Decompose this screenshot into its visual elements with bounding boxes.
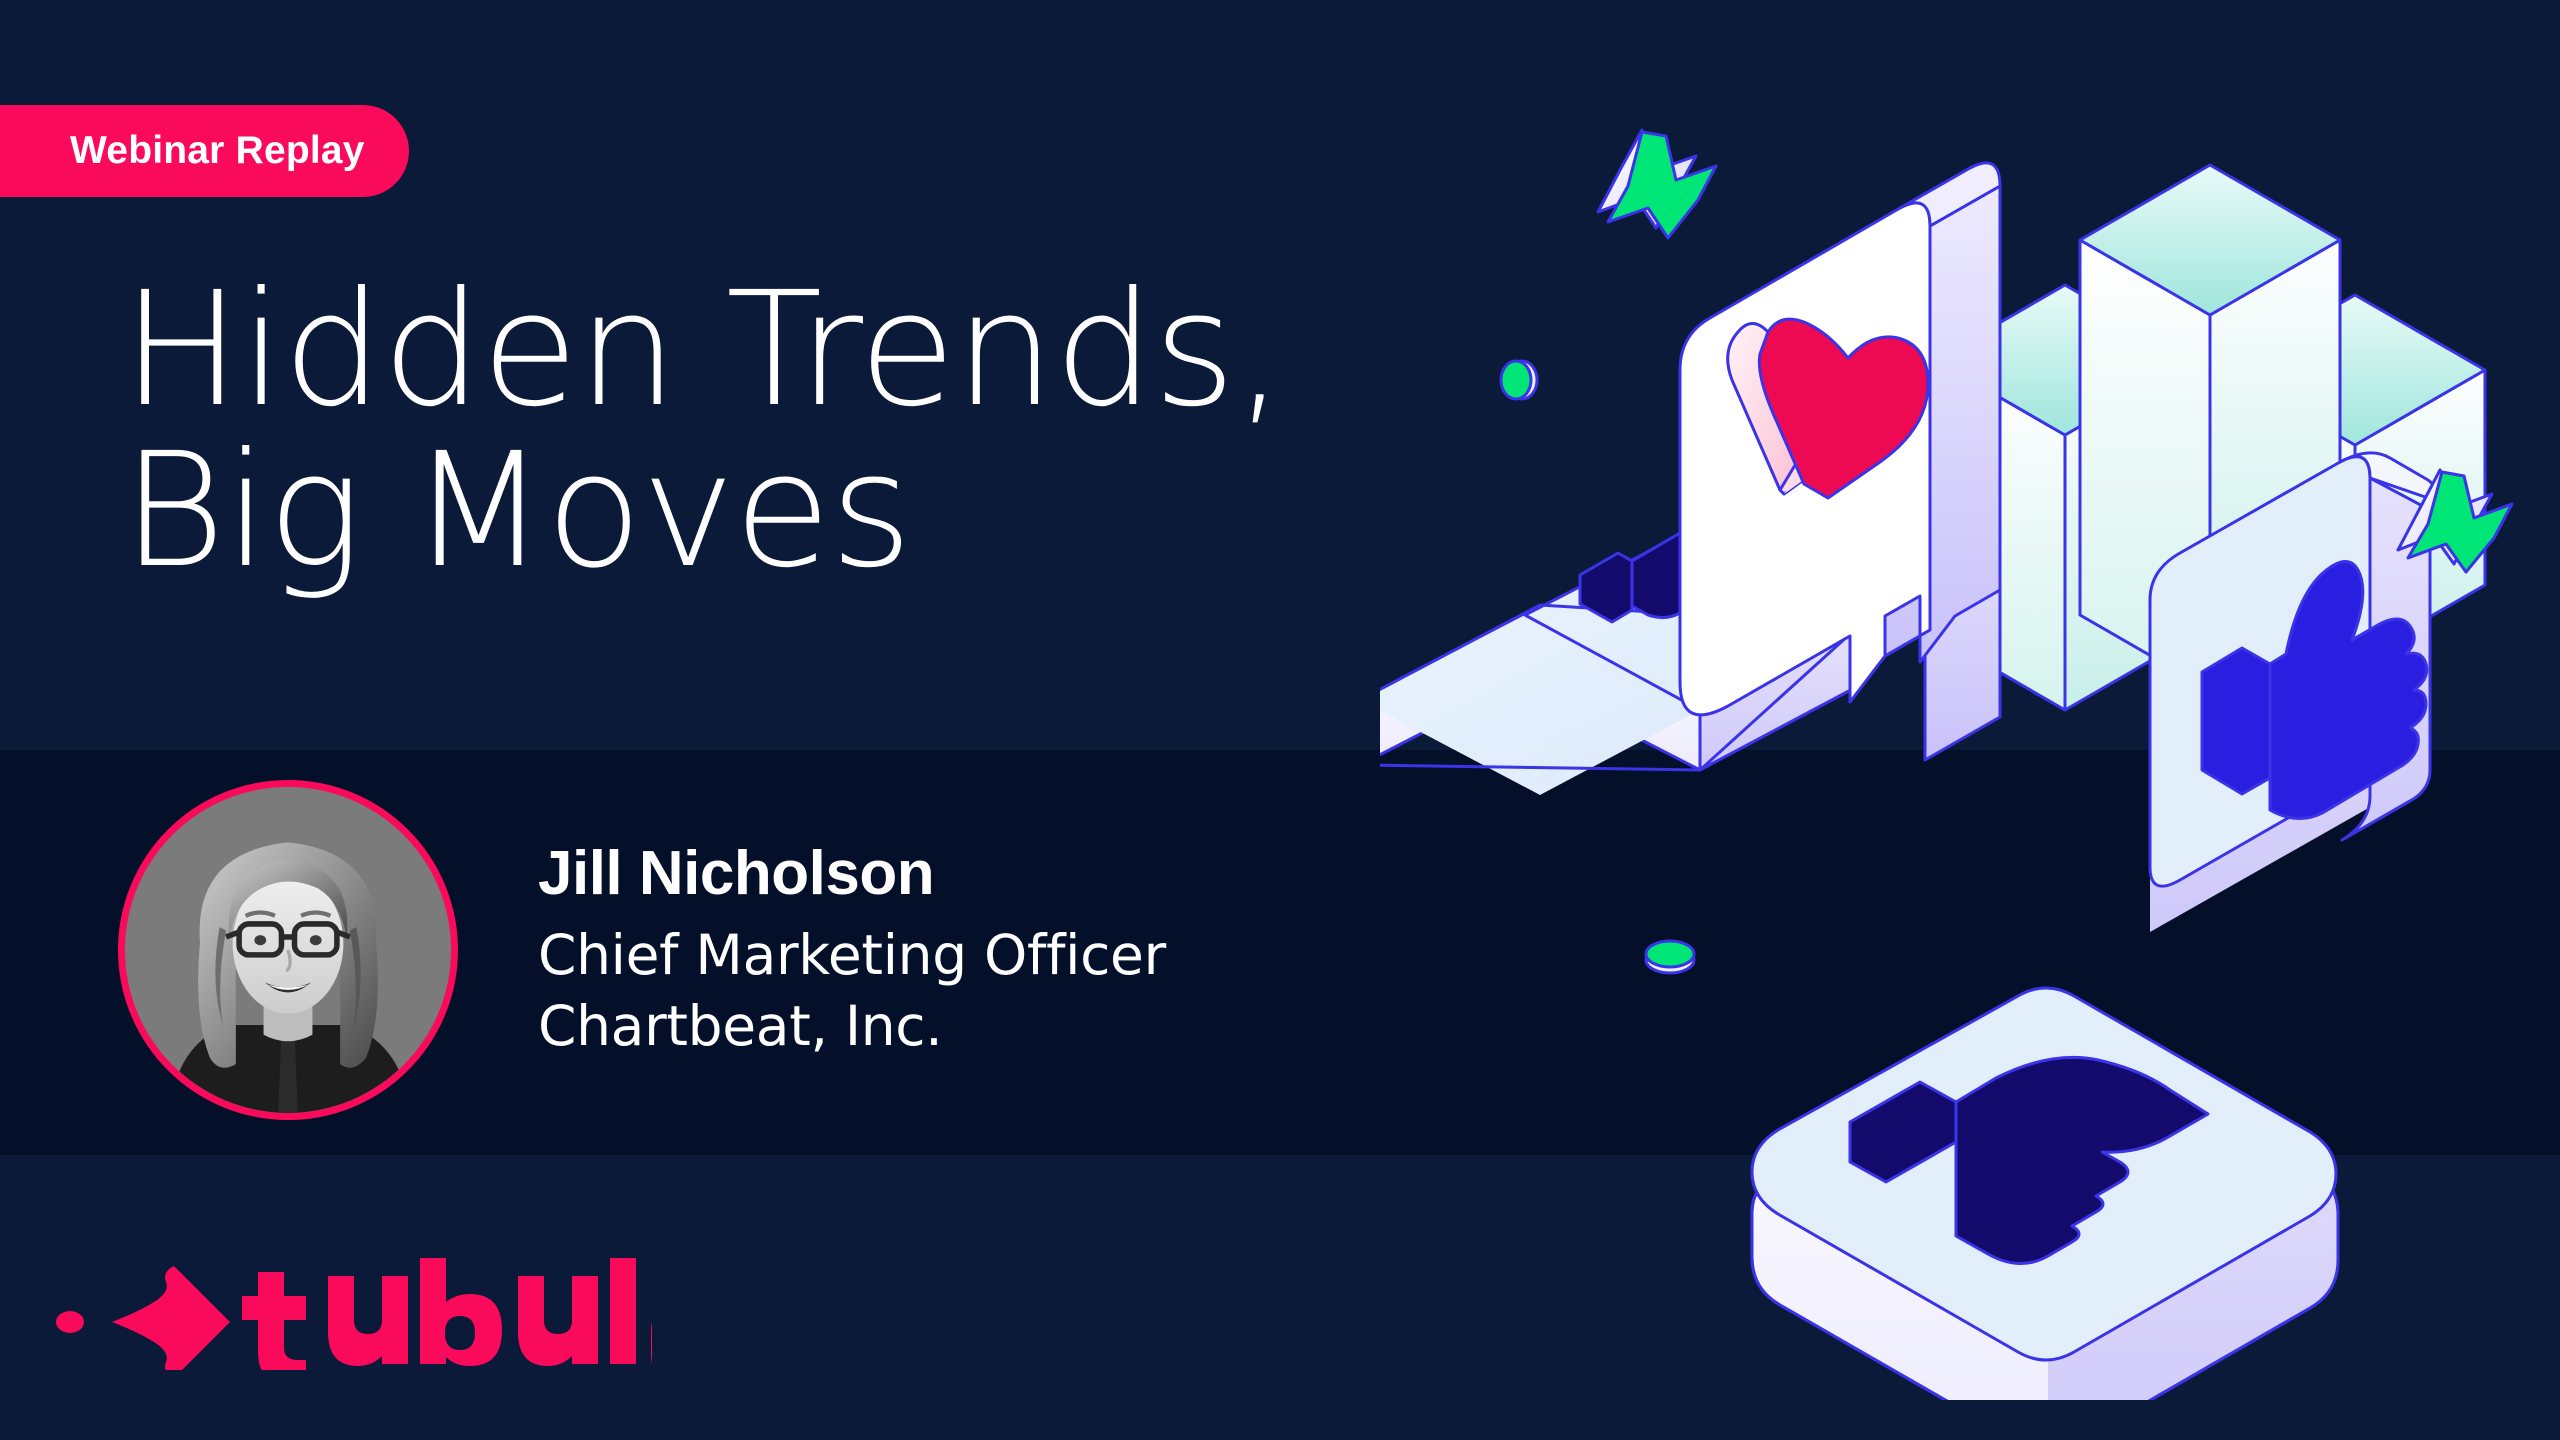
speaker-text: Jill Nicholson Chief Marketing Officer C…	[538, 839, 1166, 1061]
speaker-company: Chartbeat, Inc.	[538, 991, 1166, 1061]
tubular-logo	[52, 1250, 652, 1370]
dot-green-bottom	[1646, 941, 1694, 973]
tubular-wordmark	[242, 1258, 652, 1370]
speaker-role: Chief Marketing Officer	[538, 920, 1166, 990]
sparkle-star-top	[1598, 130, 1716, 238]
speaker-name: Jill Nicholson	[538, 839, 1166, 908]
isometric-engagement-illustration	[1380, 70, 2560, 1400]
thumbs-up-tile-bottom	[1752, 988, 2338, 1400]
speaker-block: Jill Nicholson Chief Marketing Officer C…	[118, 780, 1166, 1120]
slide-canvas: Webinar Replay Hidden Trends, Big Moves	[0, 0, 2560, 1440]
avatar	[118, 780, 458, 1120]
tubular-play-mark	[56, 1266, 230, 1370]
page-title: Hidden Trends, Big Moves	[122, 270, 1284, 592]
badge-label: Webinar Replay	[70, 129, 365, 173]
speech-bubble-heart	[1680, 163, 2000, 870]
webinar-replay-badge: Webinar Replay	[0, 105, 409, 197]
dot-green-left	[1501, 361, 1537, 399]
